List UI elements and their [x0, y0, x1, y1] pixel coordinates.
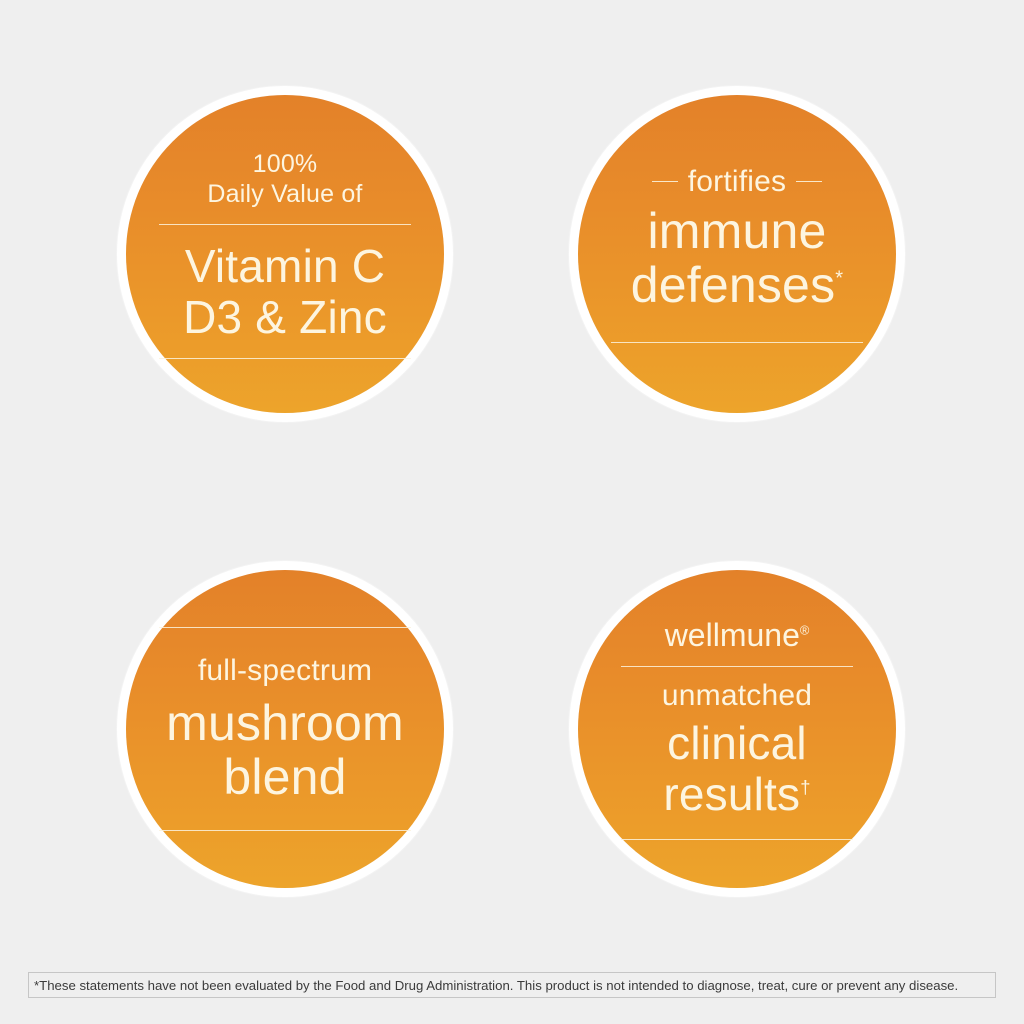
- daily-value-percent: 100%: [253, 149, 318, 180]
- immune-line-1: immune: [647, 204, 826, 258]
- results-line-2-text: results: [663, 768, 800, 820]
- footnote-asterisk: *: [835, 268, 843, 290]
- badge-daily-value: 100% Daily Value of Vitamin C D3 & Zinc: [126, 95, 444, 413]
- daily-value-nutrient-1: Vitamin C: [185, 241, 385, 292]
- badge-daily-value-content: 100% Daily Value of Vitamin C D3 & Zinc: [151, 149, 419, 359]
- dash-left: [652, 181, 678, 182]
- mushroom-eyebrow: full-spectrum: [198, 654, 372, 688]
- disclaimer-text: *These statements have not been evaluate…: [34, 978, 958, 993]
- divider-bottom: [159, 358, 411, 359]
- eyebrow-row: fortifies: [652, 165, 823, 199]
- daily-value-subtitle: Daily Value of: [207, 179, 362, 210]
- footnote-dagger: †: [800, 776, 810, 797]
- results-line-1: clinical: [667, 718, 807, 769]
- badge-mushroom-blend-content: full-spectrum mushroom blend: [151, 627, 419, 832]
- badge-immune-defenses: fortifies immune defenses*: [578, 95, 896, 413]
- mushroom-line-2: blend: [223, 750, 346, 804]
- wellmune-brand-text: wellmune: [665, 617, 800, 653]
- divider-top: [159, 627, 411, 628]
- badge-mushroom-blend: full-spectrum mushroom blend: [126, 570, 444, 888]
- registered-mark-icon: ®: [800, 622, 809, 637]
- immune-line-2-text: defenses: [631, 257, 836, 313]
- mushroom-line-1: mushroom: [166, 696, 404, 750]
- dash-right: [796, 181, 822, 182]
- divider-bottom: [159, 830, 411, 831]
- divider-bottom: [611, 342, 863, 343]
- badge-immune-defenses-content: fortifies immune defenses*: [603, 165, 871, 344]
- divider-top: [159, 224, 411, 225]
- disclaimer-bar: *These statements have not been evaluate…: [28, 972, 996, 998]
- badge-grid: 100% Daily Value of Vitamin C D3 & Zinc …: [0, 0, 1024, 950]
- badge-wellmune-results: wellmune® unmatched clinical results†: [578, 570, 896, 888]
- divider-bottom: [621, 839, 853, 840]
- results-line-2: results†: [663, 769, 810, 820]
- immune-line-2: defenses*: [631, 258, 844, 312]
- divider-top: [621, 666, 853, 667]
- immune-eyebrow: fortifies: [688, 165, 787, 199]
- daily-value-nutrient-2: D3 & Zinc: [183, 292, 387, 343]
- badge-wellmune-results-content: wellmune® unmatched clinical results†: [603, 618, 871, 841]
- results-eyebrow: unmatched: [662, 679, 812, 713]
- wellmune-brand: wellmune®: [665, 618, 810, 654]
